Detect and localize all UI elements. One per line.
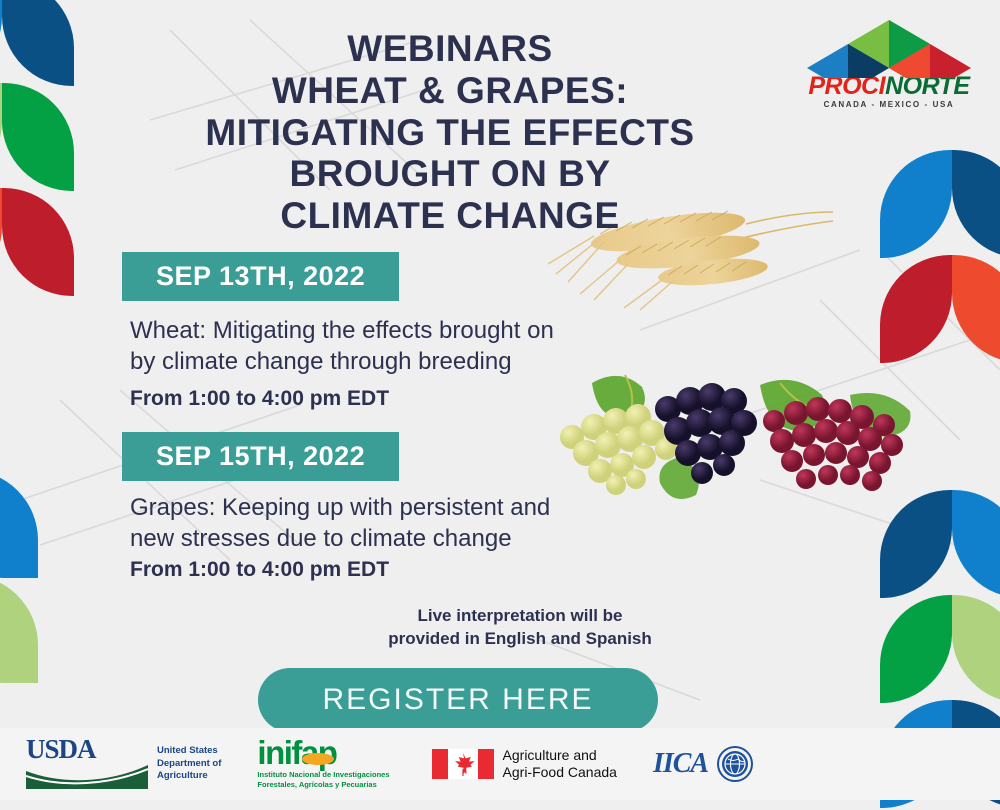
- interpretation-note-line-1: Live interpretation will be: [418, 606, 623, 625]
- petal-red-dark: [880, 255, 952, 363]
- petal-decoration-top-left: [0, 0, 114, 278]
- inifap-subtitle-line-2: Forestales, Agrícolas y Pecuarias: [257, 780, 389, 790]
- usda-swoosh-icon: [26, 763, 148, 789]
- petal-green-dark: [2, 83, 74, 191]
- session-description-2: Grapes: Keeping up with persistent and n…: [130, 492, 830, 554]
- petal-blue-dark: [2, 0, 74, 86]
- title-line-4: BROUGHT ON BY: [110, 153, 790, 195]
- inifap-subtitle-line-1: Instituto Nacional de Investigaciones: [257, 770, 389, 780]
- petal-blue-light: [880, 150, 952, 258]
- usda-mark-icon: USDA: [26, 736, 148, 793]
- petal-blue-light: [0, 470, 38, 578]
- petal-red-dark: [2, 188, 74, 296]
- inifap-wordmark: inifap: [257, 738, 389, 768]
- usda-wordmark: USDA: [26, 736, 148, 763]
- usda-subtitle-line-1: United States: [157, 745, 221, 758]
- session-description-1: Wheat: Mitigating the effects brought on…: [130, 315, 830, 377]
- usda-subtitle-line-2: Department of: [157, 758, 221, 771]
- iica-globe-icon: [717, 746, 753, 782]
- usda-logo: USDA United States Department of Agricul…: [26, 736, 221, 793]
- petal-decoration-top-right: [880, 150, 1000, 380]
- agriculture-agrifood-canada-text: Agriculture and Agri-Food Canada: [503, 747, 617, 782]
- title-line-1: WEBINARS: [110, 28, 790, 70]
- session-description-1-line-1: Wheat: Mitigating the effects brought on: [130, 317, 554, 344]
- session-description-2-line-1: Grapes: Keeping up with persistent and: [130, 494, 550, 521]
- title-line-3: MITIGATING THE EFFECTS: [110, 112, 790, 154]
- session-date-badge-1: SEP 13TH, 2022: [122, 252, 399, 301]
- iica-logo: IICA: [653, 746, 753, 782]
- canada-flag-icon: [432, 749, 494, 779]
- agriculture-agrifood-canada-logo: Agriculture and Agri-Food Canada: [432, 747, 617, 782]
- inifap-accent-icon: [301, 752, 335, 766]
- petal-blue-light: [952, 490, 1000, 598]
- petal-decoration-mid-left: [0, 470, 114, 690]
- inifap-subtitle: Instituto Nacional de Investigaciones Fo…: [257, 770, 389, 790]
- title-line-2: WHEAT & GRAPES:: [110, 70, 790, 112]
- procinorte-diamonds-icon: [796, 18, 982, 78]
- session-time-2: From 1:00 to 4:00 pm EDT: [130, 558, 389, 582]
- petal-red-light: [952, 255, 1000, 363]
- procinorte-logo: PROCINORTE CANADA - MEXICO - USA: [796, 18, 982, 109]
- iica-wordmark: IICA: [653, 748, 708, 780]
- title-line-5: CLIMATE CHANGE: [110, 195, 790, 237]
- sponsor-footer: USDA United States Department of Agricul…: [0, 728, 1000, 800]
- session-description-1-line-2: by climate change through breeding: [130, 348, 512, 375]
- usda-subtitle: United States Department of Agriculture: [157, 745, 221, 783]
- interpretation-note-line-2: provided in English and Spanish: [388, 629, 652, 648]
- session-description-2-line-2: new stresses due to climate change: [130, 525, 512, 552]
- session-date-badge-2: SEP 15TH, 2022: [122, 432, 399, 481]
- petal-blue-dark: [952, 150, 1000, 258]
- interpretation-note: Live interpretation will be provided in …: [0, 605, 1000, 651]
- usda-subtitle-line-3: Agriculture: [157, 770, 221, 783]
- register-here-button[interactable]: REGISTER HERE: [258, 668, 658, 732]
- inifap-logo: inifap Instituto Nacional de Investigaci…: [257, 738, 389, 789]
- aafc-line-2: Agri-Food Canada: [503, 764, 617, 782]
- poster-title: WEBINARS WHEAT & GRAPES: MITIGATING THE …: [110, 28, 790, 237]
- aafc-line-1: Agriculture and: [503, 747, 617, 765]
- session-time-1: From 1:00 to 4:00 pm EDT: [130, 387, 389, 411]
- procinorte-tagline: CANADA - MEXICO - USA: [796, 100, 982, 109]
